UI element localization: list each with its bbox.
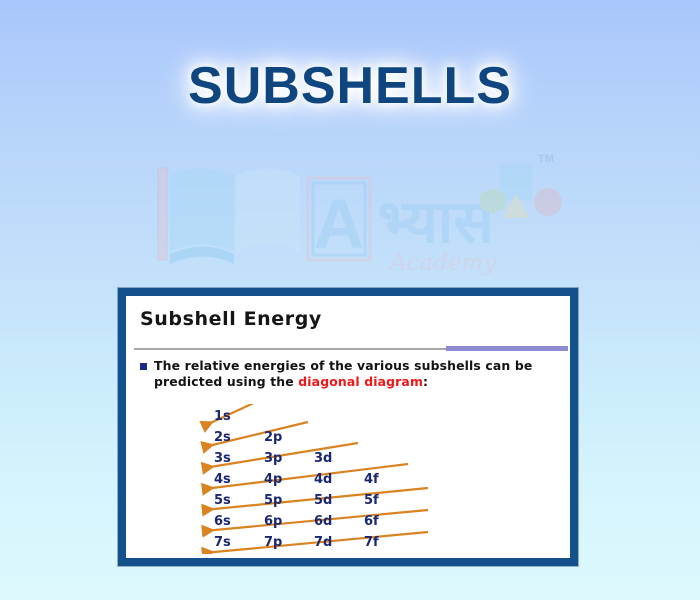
- orbital-label: 4f: [364, 472, 379, 487]
- page-title: SUBSHELLS: [0, 56, 700, 116]
- orbital-label: 4d: [314, 472, 332, 487]
- orbital-label: 2s: [214, 430, 231, 445]
- orbital-label: 6s: [214, 514, 231, 529]
- orbital-label: 5p: [264, 493, 282, 508]
- open-book-icon: [158, 168, 300, 264]
- orbital-label: 4p: [264, 472, 282, 487]
- orbital-label: 3s: [214, 451, 231, 466]
- orbital-label: 7f: [364, 535, 379, 550]
- slide-title: Subshell Energy: [140, 308, 322, 330]
- decorative-shapes: [480, 164, 562, 218]
- diagram-labels: 1s2s2p3s3p3d4s4p4d4f5s5p5d5f6s6p6d6f7s7p…: [214, 409, 379, 550]
- bullet-highlight: diagonal diagram: [298, 374, 423, 389]
- slide-content: Subshell Energy The relative energies of…: [126, 296, 570, 558]
- watermark-logo: A भ्यास Academy TM: [150, 150, 570, 280]
- orbital-label: 5d: [314, 493, 332, 508]
- brand-letter-a: A: [308, 178, 370, 263]
- orbital-label: 2p: [264, 430, 282, 445]
- slide-page: SUBSHELLS A भ्यास Academy: [0, 0, 700, 600]
- orbital-label: 7p: [264, 535, 282, 550]
- slide-frame: Subshell Energy The relative energies of…: [118, 288, 578, 566]
- diagonal-arrow: [204, 404, 258, 426]
- divider-left-segment: [134, 348, 446, 350]
- orbital-label: 6d: [314, 514, 332, 529]
- orbital-label: 5s: [214, 493, 231, 508]
- bullet-text: The relative energies of the various sub…: [154, 358, 560, 389]
- diagonal-diagram: 1s2s2p3s3p3d4s4p4d4f5s5p5d5f6s6p6d6f7s7p…: [196, 404, 496, 554]
- bullet-item: The relative energies of the various sub…: [140, 358, 560, 389]
- orbital-label: 6f: [364, 514, 379, 529]
- orbital-label: 4s: [214, 472, 231, 487]
- orbital-label: 5f: [364, 493, 379, 508]
- orbital-label: 7s: [214, 535, 231, 550]
- divider-right-segment: [446, 346, 568, 351]
- brand-devanagari: भ्यास: [378, 187, 496, 257]
- brand-sub: Academy: [388, 250, 497, 276]
- orbital-label: 3p: [264, 451, 282, 466]
- svg-text:A: A: [314, 185, 365, 263]
- orbital-label: 1s: [214, 409, 231, 424]
- square-bullet-icon: [140, 363, 147, 370]
- orbital-label: 7d: [314, 535, 332, 550]
- orbital-label: 3d: [314, 451, 332, 466]
- orbital-label: 6p: [264, 514, 282, 529]
- trademark-mark: TM: [538, 153, 554, 165]
- bullet-text-part2: :: [423, 374, 428, 389]
- title-divider: [134, 346, 568, 351]
